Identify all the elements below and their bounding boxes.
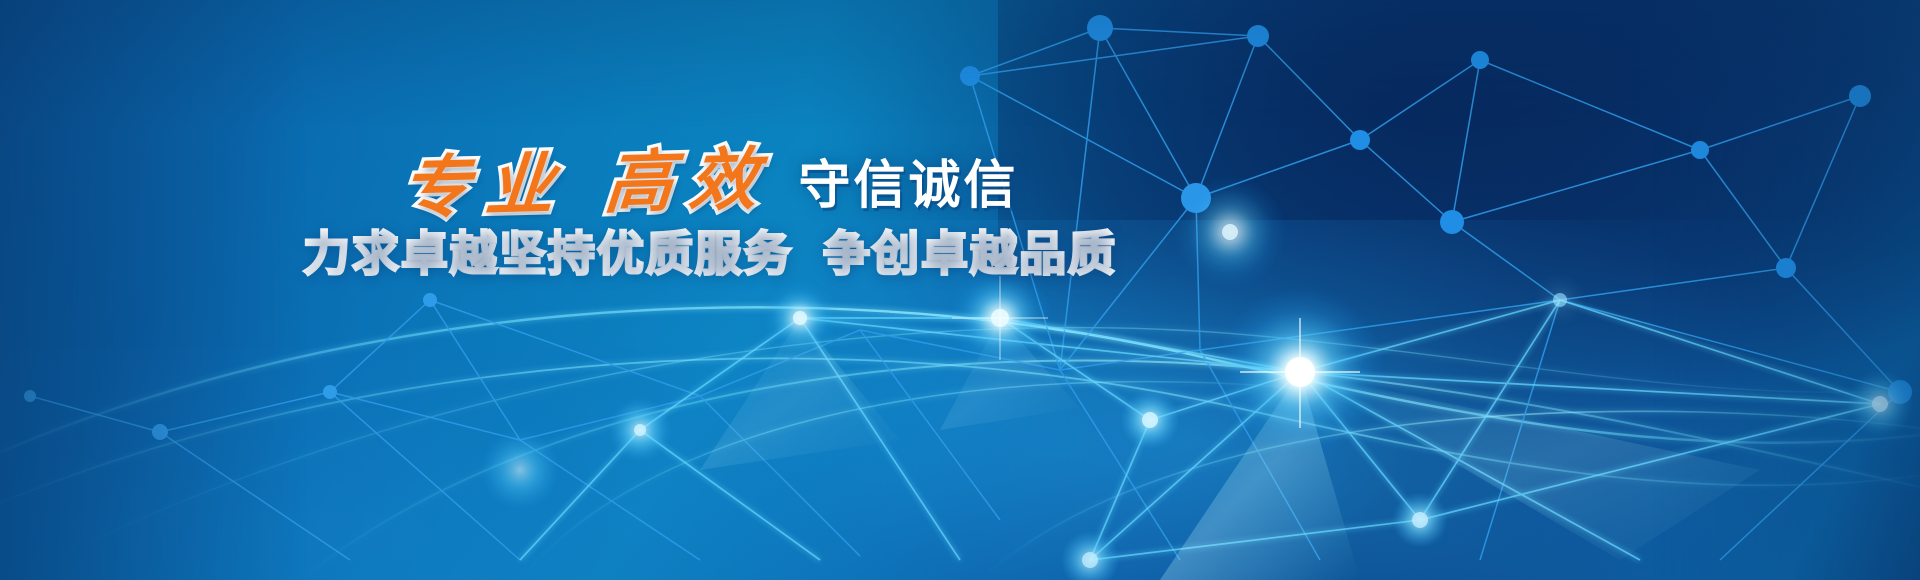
background-vignette — [0, 0, 1920, 580]
headline-line-1: 专业 高效 守信诚信 — [0, 132, 1420, 216]
hero-banner: 专业 高效 守信诚信 力求卓越坚持优质服务 争创卓越品质 — [0, 0, 1920, 580]
headline-block: 专业 高效 守信诚信 力求卓越坚持优质服务 争创卓越品质 — [0, 132, 1420, 277]
headline-subline: 力求卓越坚持优质服务 争创卓越品质 — [0, 230, 1420, 277]
headline-plain-text: 守信诚信 — [798, 160, 1018, 212]
headline-accent-text: 专业 高效 — [398, 145, 775, 223]
